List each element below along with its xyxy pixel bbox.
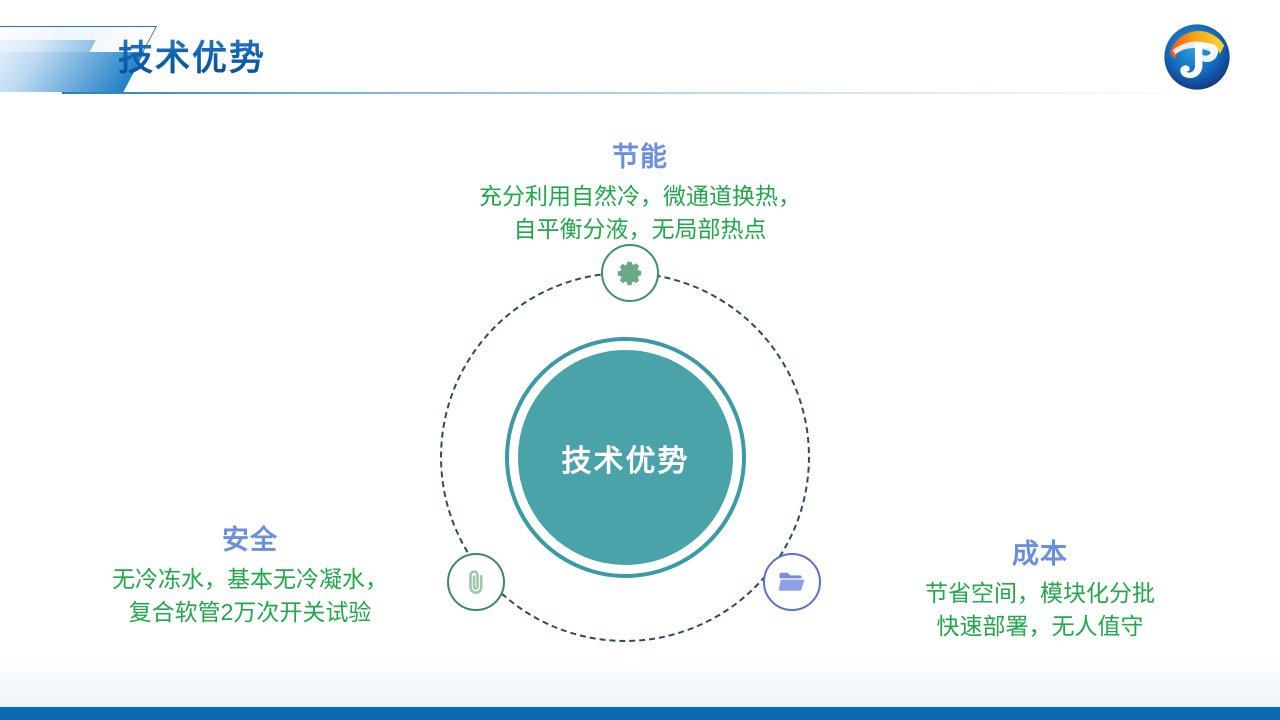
advantage-category-energy: 节能 [380, 135, 900, 174]
gear-icon [615, 258, 645, 288]
diagram-node-energy[interactable] [601, 244, 659, 302]
diagram-node-cost[interactable] [763, 553, 821, 611]
slide-header: 技术优势 [0, 0, 1280, 96]
advantage-block-cost: 成本 节省空间，模块化分批 快速部署，无人值守 [830, 532, 1250, 642]
core-circle-label: 技术优势 [562, 436, 690, 480]
paperclip-icon [461, 567, 491, 597]
folder-icon [776, 566, 808, 598]
page-title: 技术优势 [118, 30, 266, 81]
slide-canvas: 技术优势 [0, 0, 1280, 720]
footer-accent-bar [0, 707, 1280, 720]
footer-gradient-strip [0, 660, 1280, 707]
advantage-block-safety: 安全 无冷冻水，基本无冷凝水， 复合软管2万次开关试验 [40, 518, 460, 628]
core-circle: 技术优势 [518, 350, 733, 565]
technology-advantages-diagram: 技术优势 [420, 258, 860, 628]
advantage-description-energy: 充分利用自然冷，微通道换热， 自平衡分液，无局部热点 [380, 180, 900, 245]
advantage-category-safety: 安全 [40, 518, 460, 557]
advantage-description-cost: 节省空间，模块化分批 快速部署，无人值守 [830, 577, 1250, 642]
advantage-description-safety: 无冷冻水，基本无冷凝水， 复合软管2万次开关试验 [40, 563, 460, 628]
advantage-block-energy: 节能 充分利用自然冷，微通道换热， 自平衡分液，无局部热点 [380, 135, 900, 245]
advantage-category-cost: 成本 [830, 532, 1250, 571]
header-divider [62, 92, 1212, 94]
company-logo-icon [1163, 23, 1231, 91]
